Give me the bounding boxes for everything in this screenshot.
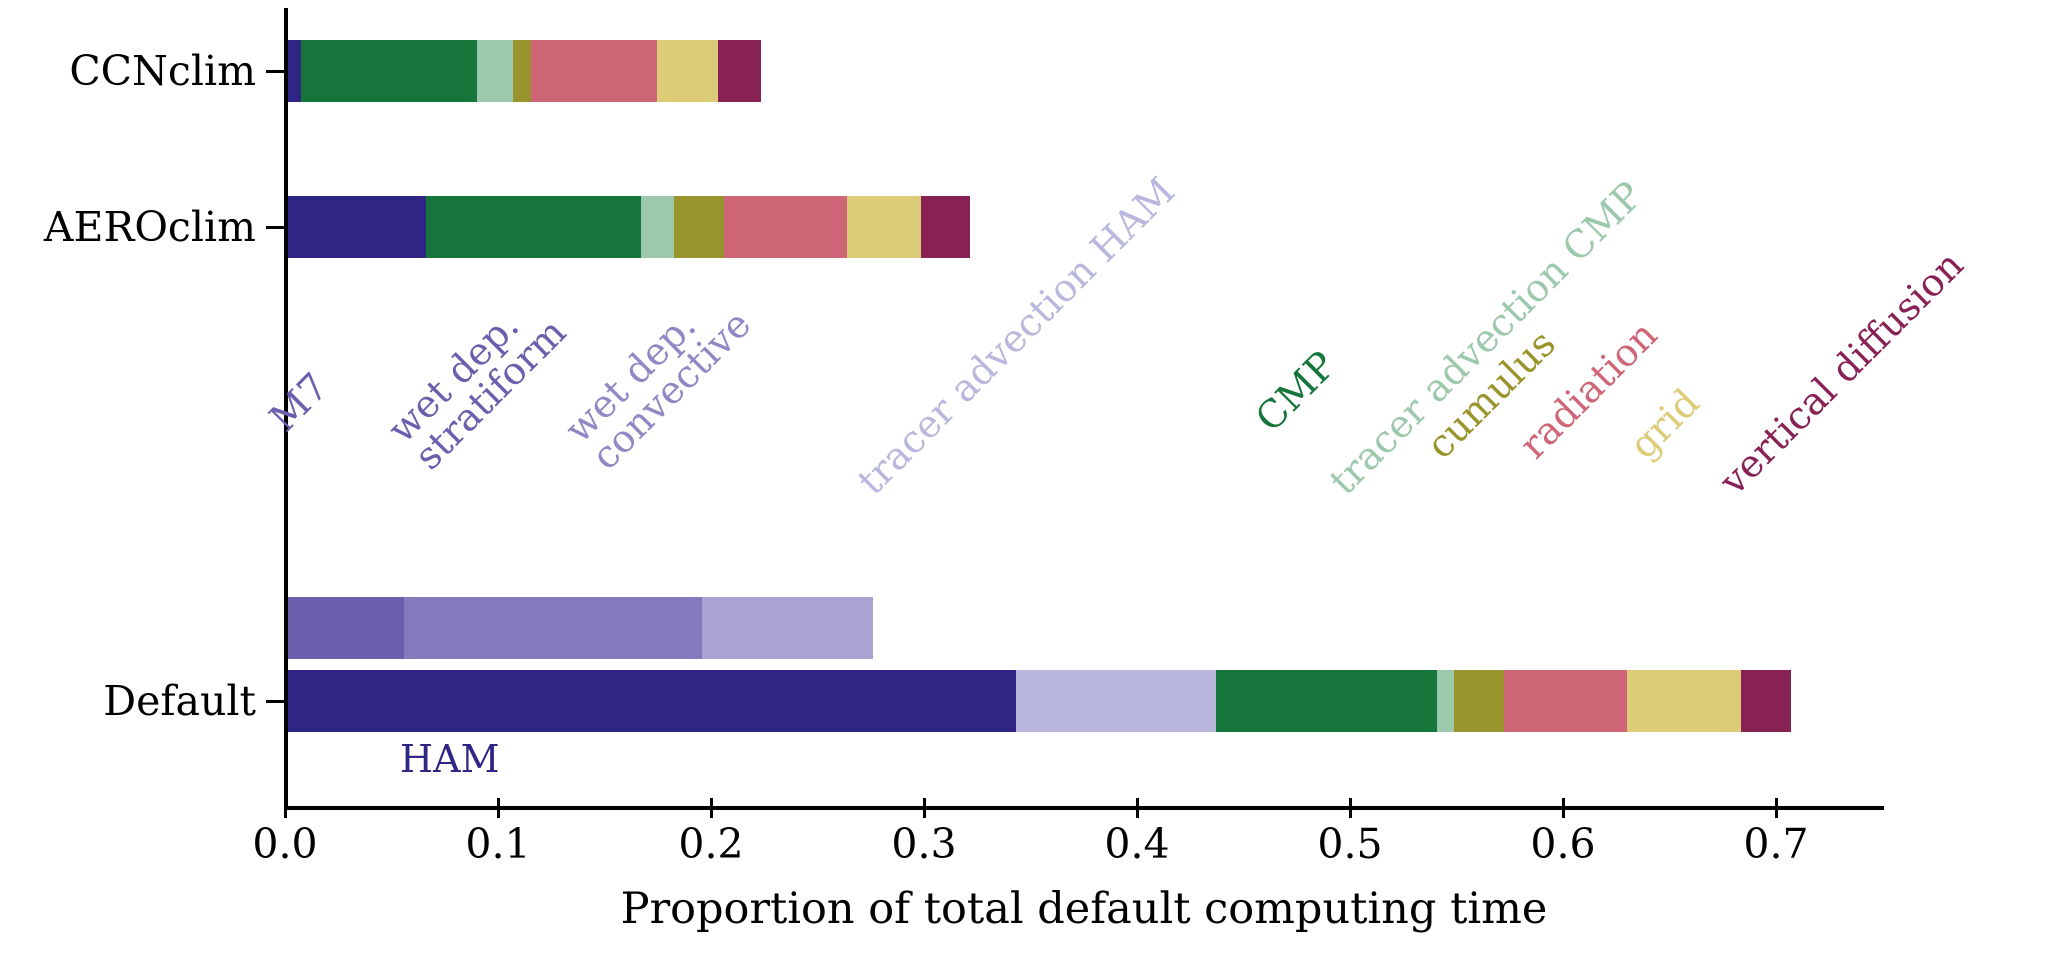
x-tick-label: 0.7 bbox=[1716, 824, 1836, 865]
bar-chart-figure: 0.00.10.20.30.40.50.60.7 CCNclimAEROclim… bbox=[0, 0, 2067, 963]
x-axis-label: Proportion of total default computing ti… bbox=[284, 884, 1884, 934]
x-tick bbox=[497, 798, 500, 818]
x-tick bbox=[710, 798, 713, 818]
x-tick bbox=[923, 798, 926, 818]
annotation-vertical-diffusion: vertical diffusion bbox=[1713, 245, 1969, 501]
bar-segment bbox=[847, 196, 920, 258]
bar-row-default bbox=[285, 670, 2067, 732]
x-tick-label: 0.3 bbox=[864, 824, 984, 865]
x-tick-label: 0.5 bbox=[1290, 824, 1410, 865]
y-tick-label-ccnclim: CCNclim bbox=[69, 47, 256, 95]
x-axis-spine bbox=[284, 806, 1884, 810]
x-tick-label: 0.6 bbox=[1503, 824, 1623, 865]
bar-segment bbox=[301, 40, 477, 102]
bar-segment bbox=[513, 40, 531, 102]
bar-segment bbox=[477, 40, 513, 102]
annotation-m7: M7 bbox=[263, 367, 334, 438]
annotation-ham: HAM bbox=[400, 740, 500, 778]
bar-segment bbox=[1437, 670, 1453, 732]
y-tick-label-aeroclim: AEROclim bbox=[44, 203, 256, 251]
x-tick-label: 0.1 bbox=[438, 824, 558, 865]
bar-segment bbox=[1016, 670, 1216, 732]
annotation-wet-dep-convective: wet dep.convective bbox=[558, 277, 757, 476]
bar-segment bbox=[1216, 670, 1438, 732]
y-tick-label-default: Default bbox=[103, 677, 256, 725]
annotation-wet-dep-stratiform: wet dep.stratiform bbox=[381, 285, 572, 476]
annotation-grid: grid bbox=[1623, 382, 1706, 465]
bar-segment bbox=[674, 196, 724, 258]
bar-segment bbox=[1627, 670, 1741, 732]
bar-segment bbox=[285, 597, 404, 659]
bar-segment bbox=[1454, 670, 1504, 732]
y-tick bbox=[266, 70, 286, 73]
bar-segment bbox=[702, 597, 872, 659]
x-tick bbox=[1349, 798, 1352, 818]
x-tick-label: 0.4 bbox=[1077, 824, 1197, 865]
bar-segment bbox=[285, 196, 426, 258]
bar-row-ccnclim bbox=[285, 40, 2067, 102]
x-tick-label: 0.2 bbox=[651, 824, 771, 865]
bar-segment bbox=[285, 670, 1016, 732]
bar-segment bbox=[641, 196, 674, 258]
bar-segment bbox=[724, 196, 848, 258]
bar-segment bbox=[1741, 670, 1791, 732]
bar-segment bbox=[404, 597, 702, 659]
y-tick bbox=[266, 700, 286, 703]
x-tick bbox=[1775, 798, 1778, 818]
bar-segment bbox=[718, 40, 761, 102]
annotation-cmp: CMP bbox=[1249, 345, 1342, 438]
x-tick-label: 0.0 bbox=[225, 824, 345, 865]
bar-segment bbox=[1504, 670, 1628, 732]
x-tick bbox=[1562, 798, 1565, 818]
y-tick bbox=[266, 226, 286, 229]
x-tick bbox=[1136, 798, 1139, 818]
bar-row-ham-breakdown bbox=[285, 597, 2067, 659]
bar-segment bbox=[426, 196, 641, 258]
bar-segment bbox=[657, 40, 719, 102]
bar-segment bbox=[531, 40, 657, 102]
x-tick bbox=[284, 798, 287, 818]
bar-segment bbox=[921, 196, 970, 258]
